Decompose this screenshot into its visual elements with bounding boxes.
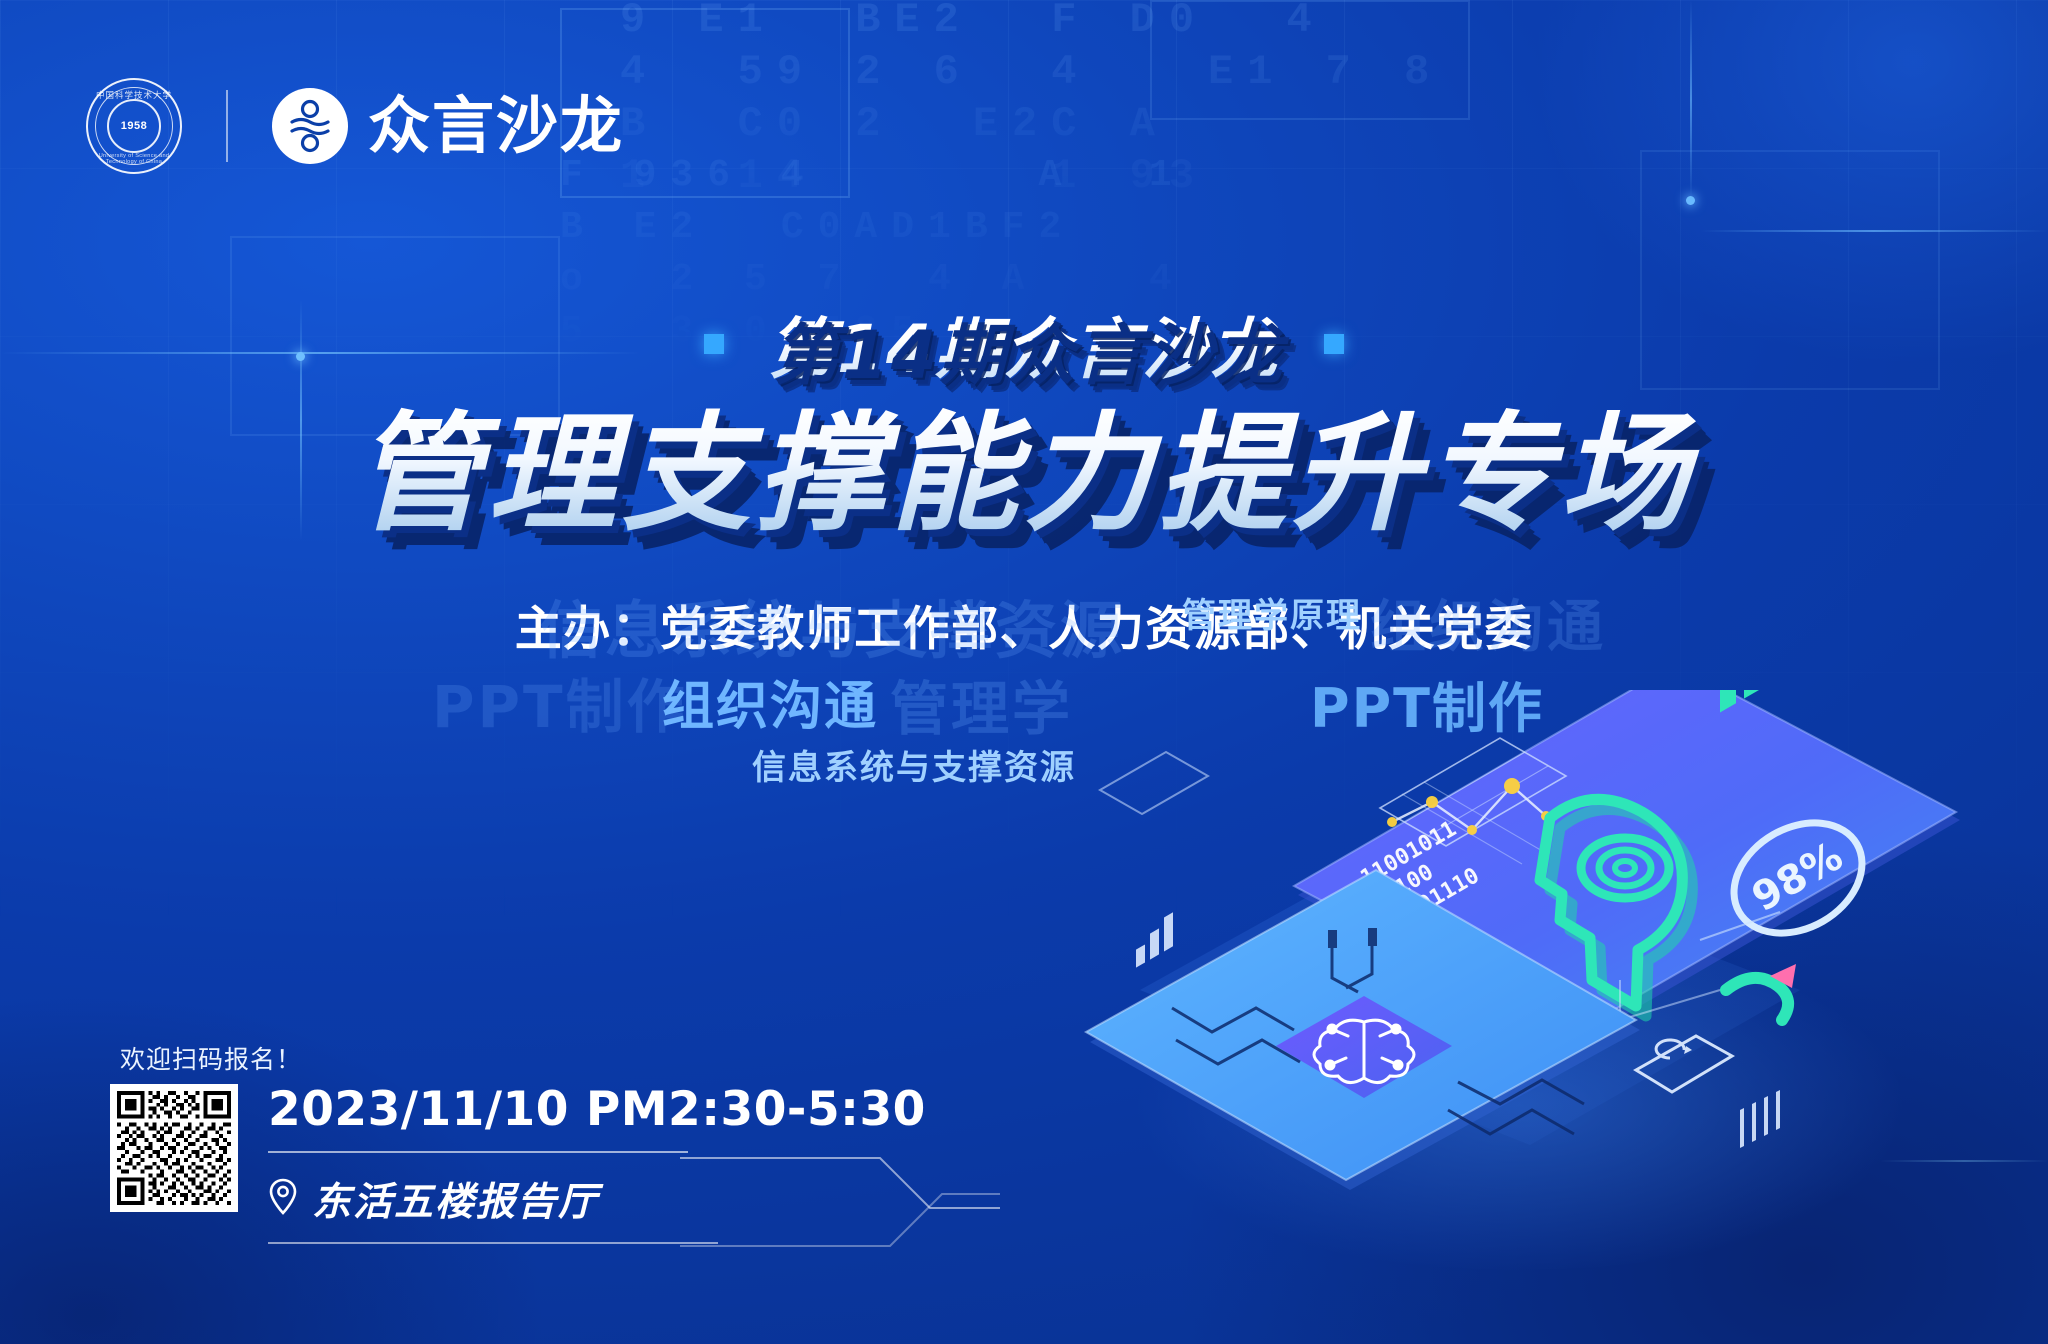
keyword-tag: 管理学原理: [1182, 588, 1362, 637]
university-seal-logo: 中国科学技术大学 1958 University of Science and …: [86, 78, 182, 174]
salon-logo: 众言沙龙: [272, 88, 624, 164]
salon-brand-text: 众言沙龙: [368, 95, 624, 157]
seal-inner-emblem: 1958: [107, 99, 161, 153]
event-datetime: 2023/11/10 PM2:30-5:30: [268, 1082, 888, 1137]
barcode-icon: [1740, 1090, 1780, 1148]
decor-rect-b: [1150, 0, 1470, 120]
grid-thumbnail-icon: [1100, 752, 1208, 814]
kicker-row: 第14期众言沙龙: [0, 296, 2048, 392]
kicker-square-left-icon: [704, 334, 724, 354]
isometric-illustration: 11001011 100100 1000101110 1000010 98%: [1080, 690, 1980, 1290]
bar-chart-icon: [1136, 912, 1173, 967]
keyword-tag: 信息系统与支撑资源: [752, 740, 1076, 789]
title-block: 第14期众言沙龙 管理支撑能力提升专场 主办：党委教师工作部、人力资源部、机关党…: [0, 296, 2048, 659]
event-venue: 东活五楼报告厅: [312, 1171, 599, 1227]
header-logos: 中国科学技术大学 1958 University of Science and …: [86, 78, 624, 174]
decor-glow-line-4: [1690, 0, 1692, 200]
qr-code[interactable]: [110, 1084, 238, 1212]
decor-glow-line-2: [1700, 230, 2048, 232]
person-water-ripple-icon: [272, 88, 348, 164]
signup-note: 欢迎扫码报名！: [120, 1040, 302, 1076]
seal-year: 1958: [121, 120, 147, 132]
seal-arc-bottom-text: University of Science and Technology of …: [88, 153, 180, 165]
kicker-square-right-icon: [1324, 334, 1344, 354]
logo-divider: [226, 90, 228, 162]
decor-node-1: [1686, 196, 1695, 205]
info-rule-bottom: [268, 1242, 718, 1244]
keyword-tag: 组织沟通: [662, 664, 878, 739]
page-title: 管理支撑能力提升专场: [0, 406, 2048, 544]
kicker-text: 第14期众言沙龙: [768, 296, 1280, 392]
poster-canvas: 9 E1 BE2 F D0 4 4 59 2 6 4 E1 7 8 B C0 2…: [0, 0, 2048, 1344]
location-pin-icon: [268, 1178, 298, 1221]
decor-chevron-lines: [680, 1150, 1000, 1260]
organizer-line: 主办：党委教师工作部、人力资源部、机关党委: [0, 590, 2048, 659]
